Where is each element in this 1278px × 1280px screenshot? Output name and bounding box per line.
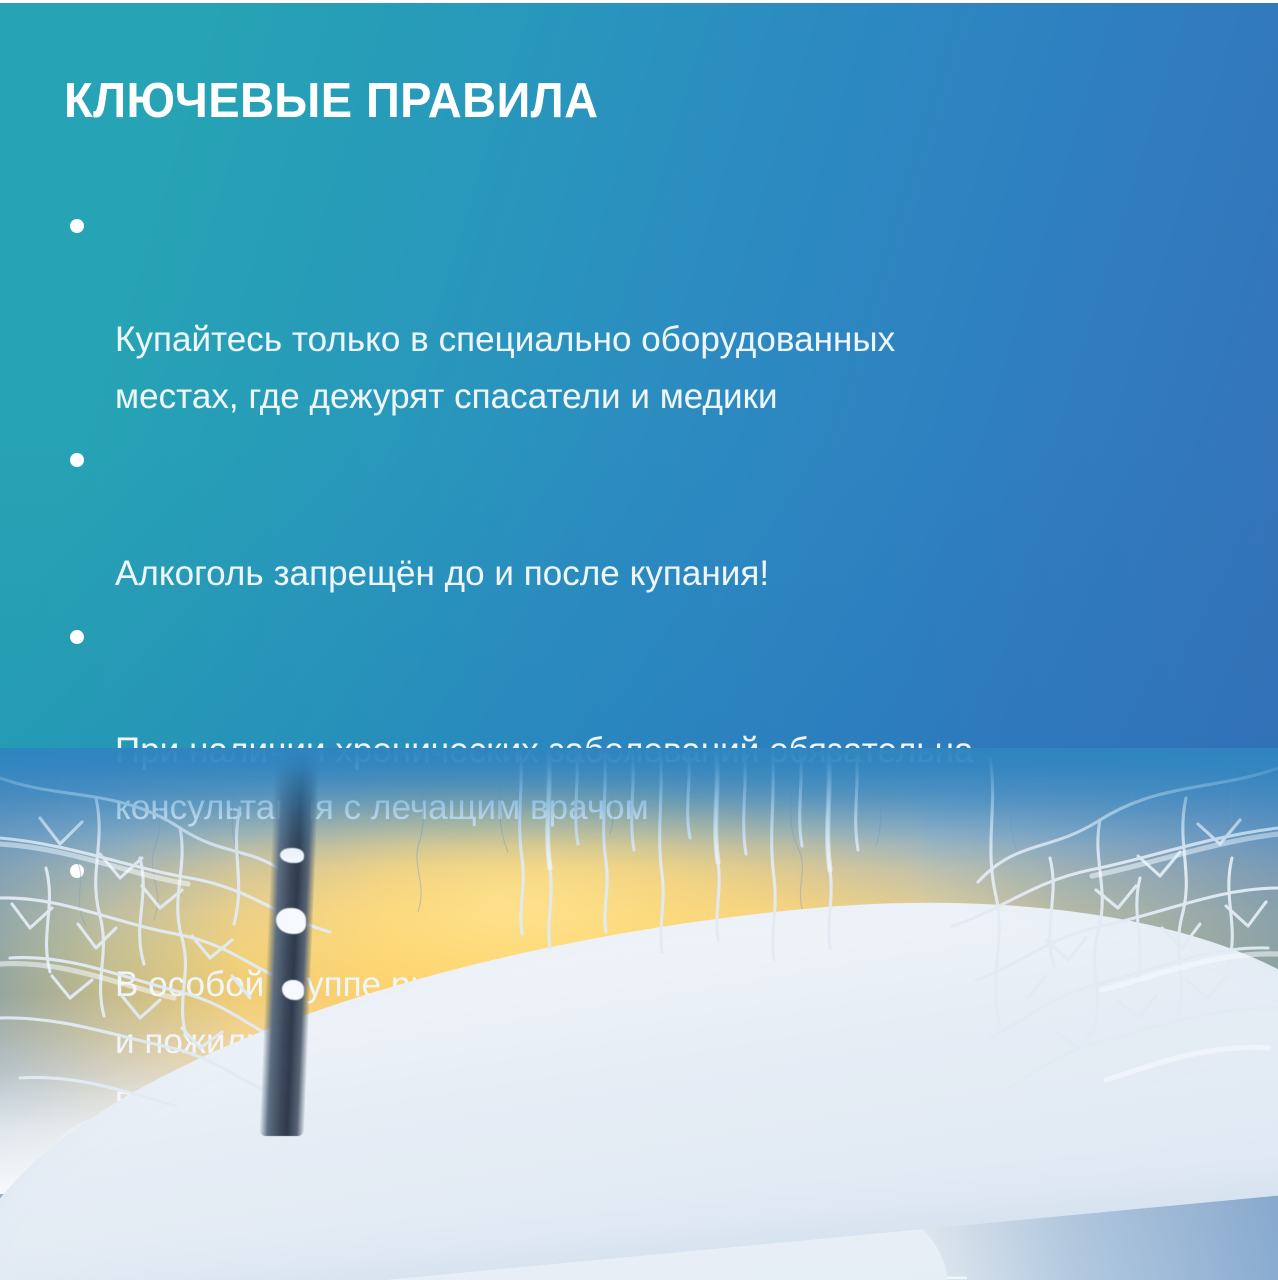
winter-landscape-photo	[0, 748, 1278, 1280]
poster: КЛЮЧЕВЫЕ ПРАВИЛА Купайтесь только в спец…	[0, 0, 1278, 1280]
list-item-text: Алкоголь запрещён до и после купания!	[115, 554, 769, 593]
bullet-icon	[70, 630, 84, 644]
bullet-icon	[70, 219, 84, 233]
bullet-icon	[70, 453, 84, 467]
trunk-snow-patch	[276, 908, 306, 934]
trunk-snow-patch	[282, 980, 304, 1000]
page-title: КЛЮЧЕВЫЕ ПРАВИЛА	[64, 74, 598, 128]
list-item: Алкоголь запрещён до и после купания!	[62, 431, 1252, 602]
photo-top-fade	[0, 748, 1278, 868]
list-item-text: Купайтесь только в специально оборудован…	[115, 320, 895, 416]
list-item: Купайтесь только в специально оборудован…	[62, 197, 1252, 425]
